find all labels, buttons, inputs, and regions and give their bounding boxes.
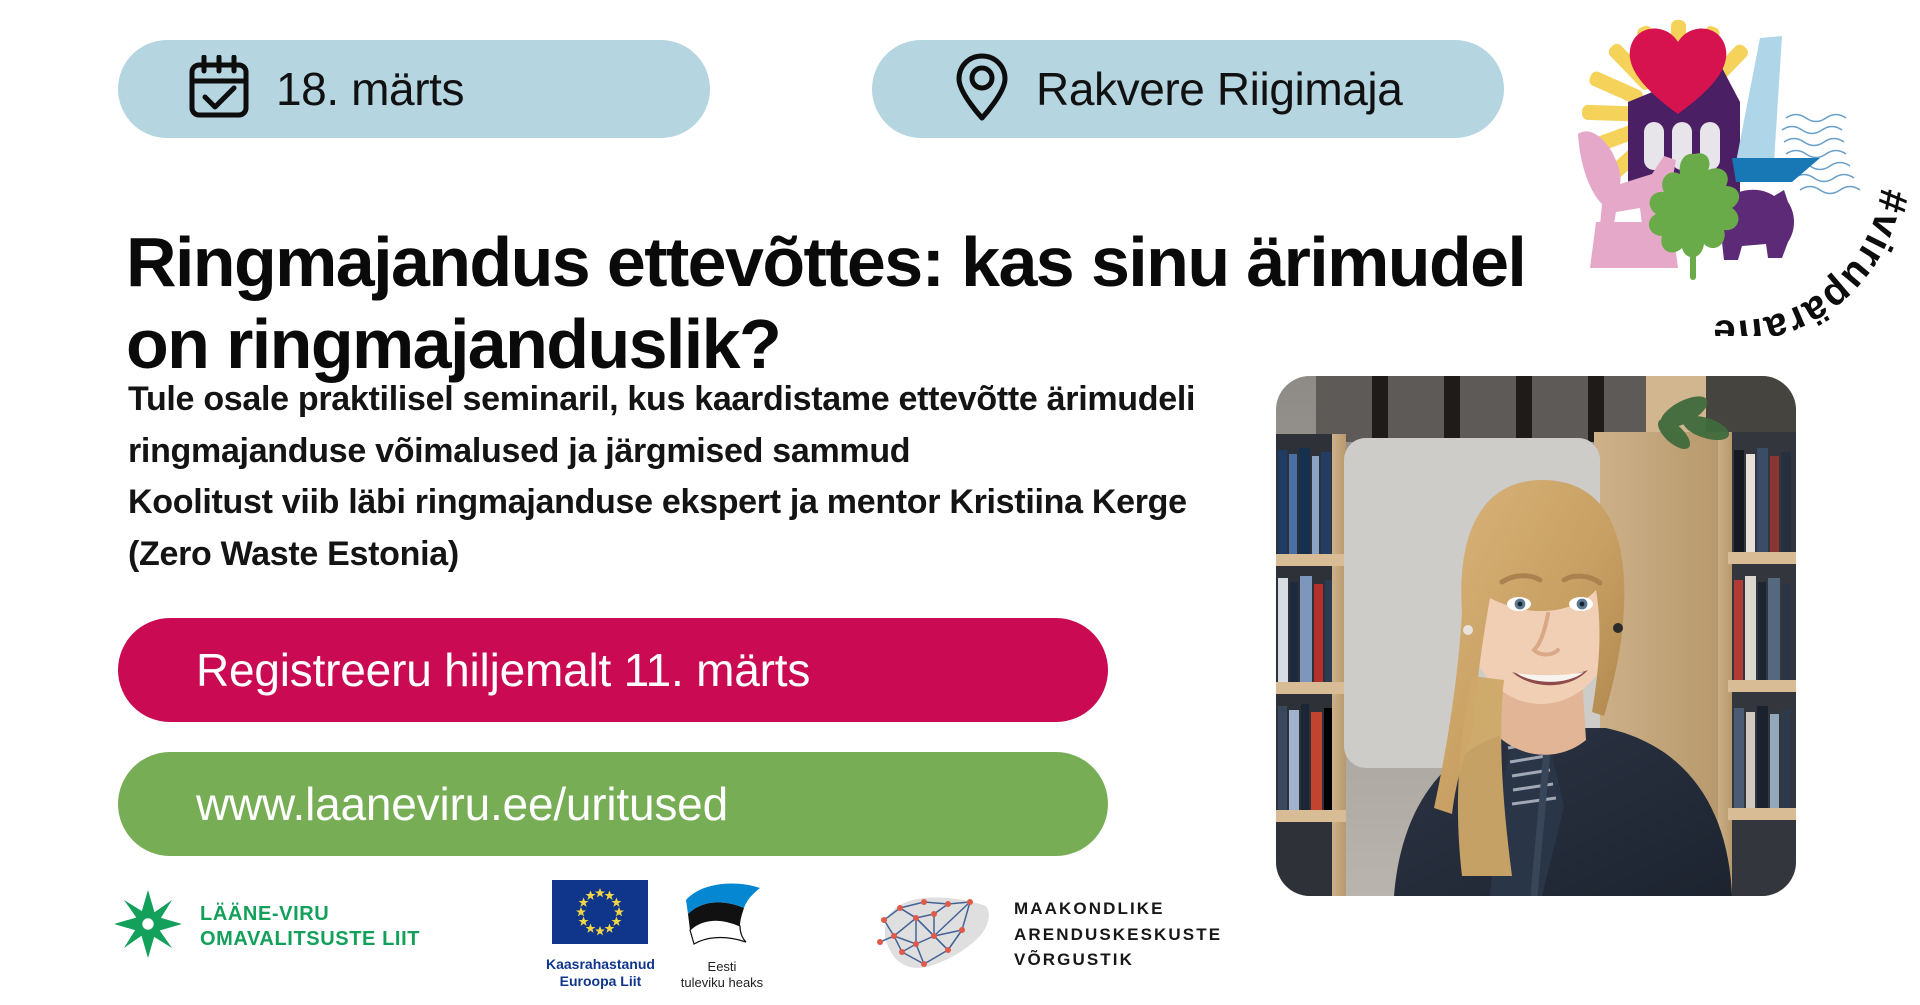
footer-logos: LÄÄNE-VIRU OMAVALITSUSTE LIIT xyxy=(0,880,1920,1005)
description-block: Tule osale praktilisel seminaril, kus ka… xyxy=(128,374,1268,581)
location-label: Rakvere Riigimaja xyxy=(1036,62,1402,116)
description-line-1: Tule osale praktilisel seminaril, kus ka… xyxy=(128,374,1268,426)
register-button[interactable]: Registreeru hiljemalt 11. märts xyxy=(118,618,1108,722)
mak-line-1: MAAKONDLIKE xyxy=(1014,899,1165,918)
water-ripples xyxy=(1782,115,1860,194)
description-line-4: (Zero Waste Estonia) xyxy=(128,529,1268,581)
speaker-portrait xyxy=(1276,376,1796,896)
website-url-label: www.laaneviru.ee/uritused xyxy=(196,777,728,831)
boat-hull xyxy=(1732,158,1820,182)
laane-viru-omavalitsuste-liit-logo: LÄÄNE-VIRU OMAVALITSUSTE LIIT xyxy=(112,888,420,965)
lvol-line-2: OMAVALITSUSTE LIIT xyxy=(200,928,420,950)
date-label: 18. märts xyxy=(276,62,464,116)
lvol-line-1: LÄÄNE-VIRU xyxy=(200,903,329,925)
event-poster: 18. märts Rakvere Riigimaja Ringmajandus… xyxy=(0,0,1920,1005)
page-title: Ringmajandus ettevõttes: kas sinu ärimud… xyxy=(126,221,1596,386)
website-url-button[interactable]: www.laaneviru.ee/uritused xyxy=(118,752,1108,856)
maakondlike-arenduskeskuste-vorgustik-logo: MAAKONDLIKE ARENDUSKESKUSTE VÕRGUSTIK xyxy=(872,884,1222,985)
viruparane-badge: #virupärane xyxy=(1560,6,1910,336)
ee-caption-line-2: tuleviku heaks xyxy=(681,975,763,990)
eu-caption-line-2: Euroopa Liit xyxy=(560,973,642,989)
estonian-flag-icon xyxy=(676,880,768,951)
mak-line-2: ARENDUSKESKUSTE xyxy=(1014,925,1222,944)
map-pin-icon xyxy=(954,52,1010,127)
mak-line-3: VÕRGUSTIK xyxy=(1014,950,1134,969)
ee-caption-line-1: Eesti xyxy=(708,959,737,974)
description-line-3: Koolitust viib läbi ringmajanduse eksper… xyxy=(128,477,1268,529)
date-pill: 18. märts xyxy=(118,40,710,138)
register-button-label: Registreeru hiljemalt 11. märts xyxy=(196,643,810,697)
location-pill: Rakvere Riigimaja xyxy=(872,40,1504,138)
eight-point-star-icon xyxy=(112,888,184,965)
estonia-network-map-icon xyxy=(872,884,1000,985)
eu-flag-icon xyxy=(552,880,648,949)
eu-caption-line-1: Kaasrahastanud xyxy=(546,956,655,972)
description-line-2: ringmajanduse võimalused ja järgmised sa… xyxy=(128,426,1268,478)
estonia-logo: Eesti tuleviku heaks xyxy=(676,880,768,991)
calendar-check-icon xyxy=(188,55,250,124)
european-union-logo: Kaasrahastanud Euroopa Liit xyxy=(546,880,655,990)
